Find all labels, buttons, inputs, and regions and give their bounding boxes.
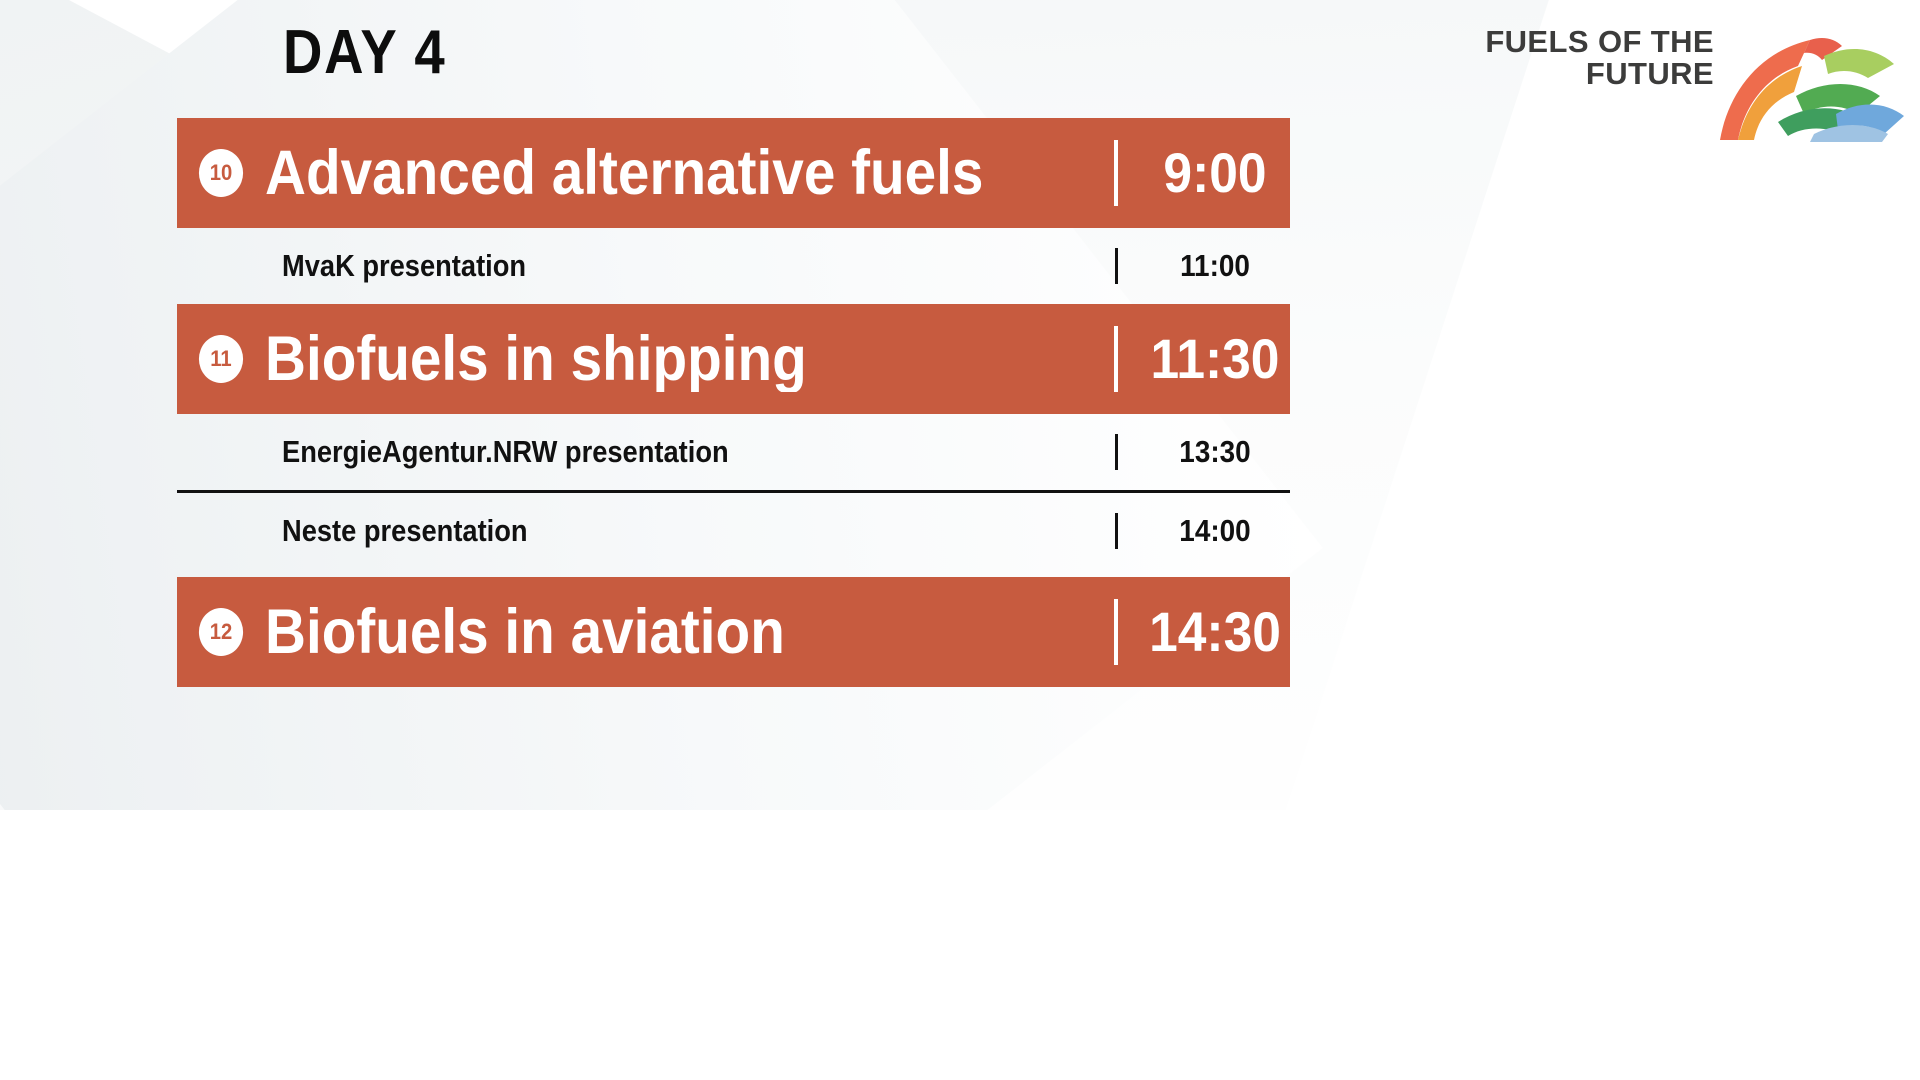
swoosh-arcs-icon — [1718, 22, 1908, 147]
session-title: Biofuels in aviation — [265, 599, 1020, 665]
session-separator — [1114, 599, 1118, 665]
row-spacer — [177, 569, 1290, 577]
sub-separator — [1115, 513, 1118, 549]
brand-logo-line-1: FUELS OF THE — [1485, 26, 1714, 58]
sub-separator — [1115, 248, 1118, 284]
sub-title: EnergieAgentur.NRW presentation — [282, 435, 1006, 469]
brand-logo: FUELS OF THE FUTURE — [1485, 18, 1908, 147]
page-title: DAY 4 — [283, 22, 447, 84]
session-time: 9:00 — [1146, 144, 1284, 202]
schedule-session-row[interactable]: 11 Biofuels in shipping 11:30 — [177, 304, 1290, 414]
session-time: 11:30 — [1146, 330, 1284, 388]
schedule-session-row[interactable]: 10 Advanced alternative fuels 9:00 — [177, 118, 1290, 228]
session-number-badge: 10 — [199, 149, 243, 197]
background-lower-wash — [0, 810, 1920, 1080]
session-title: Biofuels in shipping — [265, 326, 1020, 392]
session-number-badge: 12 — [199, 608, 243, 656]
sub-title: Neste presentation — [282, 514, 1006, 548]
schedule-list: 10 Advanced alternative fuels 9:00 MvaK … — [177, 118, 1290, 687]
session-title: Advanced alternative fuels — [265, 140, 1020, 206]
sub-time: 13:30 — [1148, 435, 1283, 469]
sub-time: 14:00 — [1148, 514, 1283, 548]
schedule-sub-row[interactable]: MvaK presentation 11:00 — [177, 228, 1290, 304]
session-number-badge: 11 — [199, 335, 243, 383]
sub-separator — [1115, 434, 1118, 470]
schedule-sub-row[interactable]: EnergieAgentur.NRW presentation 13:30 — [177, 414, 1290, 490]
sub-time: 11:00 — [1148, 249, 1283, 283]
brand-logo-text: FUELS OF THE FUTURE — [1485, 18, 1714, 90]
session-separator — [1114, 140, 1118, 206]
sub-title: MvaK presentation — [282, 249, 1006, 283]
schedule-sub-row[interactable]: Neste presentation 14:00 — [177, 493, 1290, 569]
brand-logo-line-2: FUTURE — [1485, 58, 1714, 90]
session-time: 14:30 — [1146, 603, 1284, 661]
schedule-session-row[interactable]: 12 Biofuels in aviation 14:30 — [177, 577, 1290, 687]
session-separator — [1114, 326, 1118, 392]
